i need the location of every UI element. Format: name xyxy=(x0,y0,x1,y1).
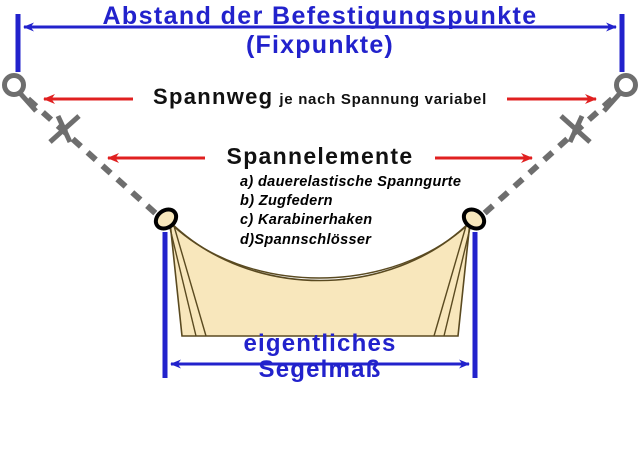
segelmass-label-line-1: eigentliches xyxy=(0,332,640,356)
segelmass-label-line-2: Segelmaß xyxy=(0,358,640,382)
diagram-canvas: Abstand der Befestigungspunkte (Fixpunkt… xyxy=(0,0,640,457)
list-item: a) dauerelastische Spanngurte xyxy=(240,174,461,191)
page-title-line-2: (Fixpunkte) xyxy=(0,33,640,58)
spannweg-label-group: Spannwegje nach Spannung variabel xyxy=(0,86,640,108)
spannelemente-label: Spannelemente xyxy=(0,145,640,168)
spannweg-label: Spannweg xyxy=(153,84,273,109)
page-title-line-1: Abstand der Befestigungspunkte xyxy=(0,4,640,29)
list-item: b) Zugfedern xyxy=(240,193,461,210)
spannweg-sublabel: je nach Spannung variabel xyxy=(279,91,487,108)
spannelemente-list: a) dauerelastische Spanngurte b) Zugfede… xyxy=(240,174,461,251)
list-item: c) Karabinerhaken xyxy=(240,212,461,229)
list-item: d)Spannschlösser xyxy=(240,232,461,249)
